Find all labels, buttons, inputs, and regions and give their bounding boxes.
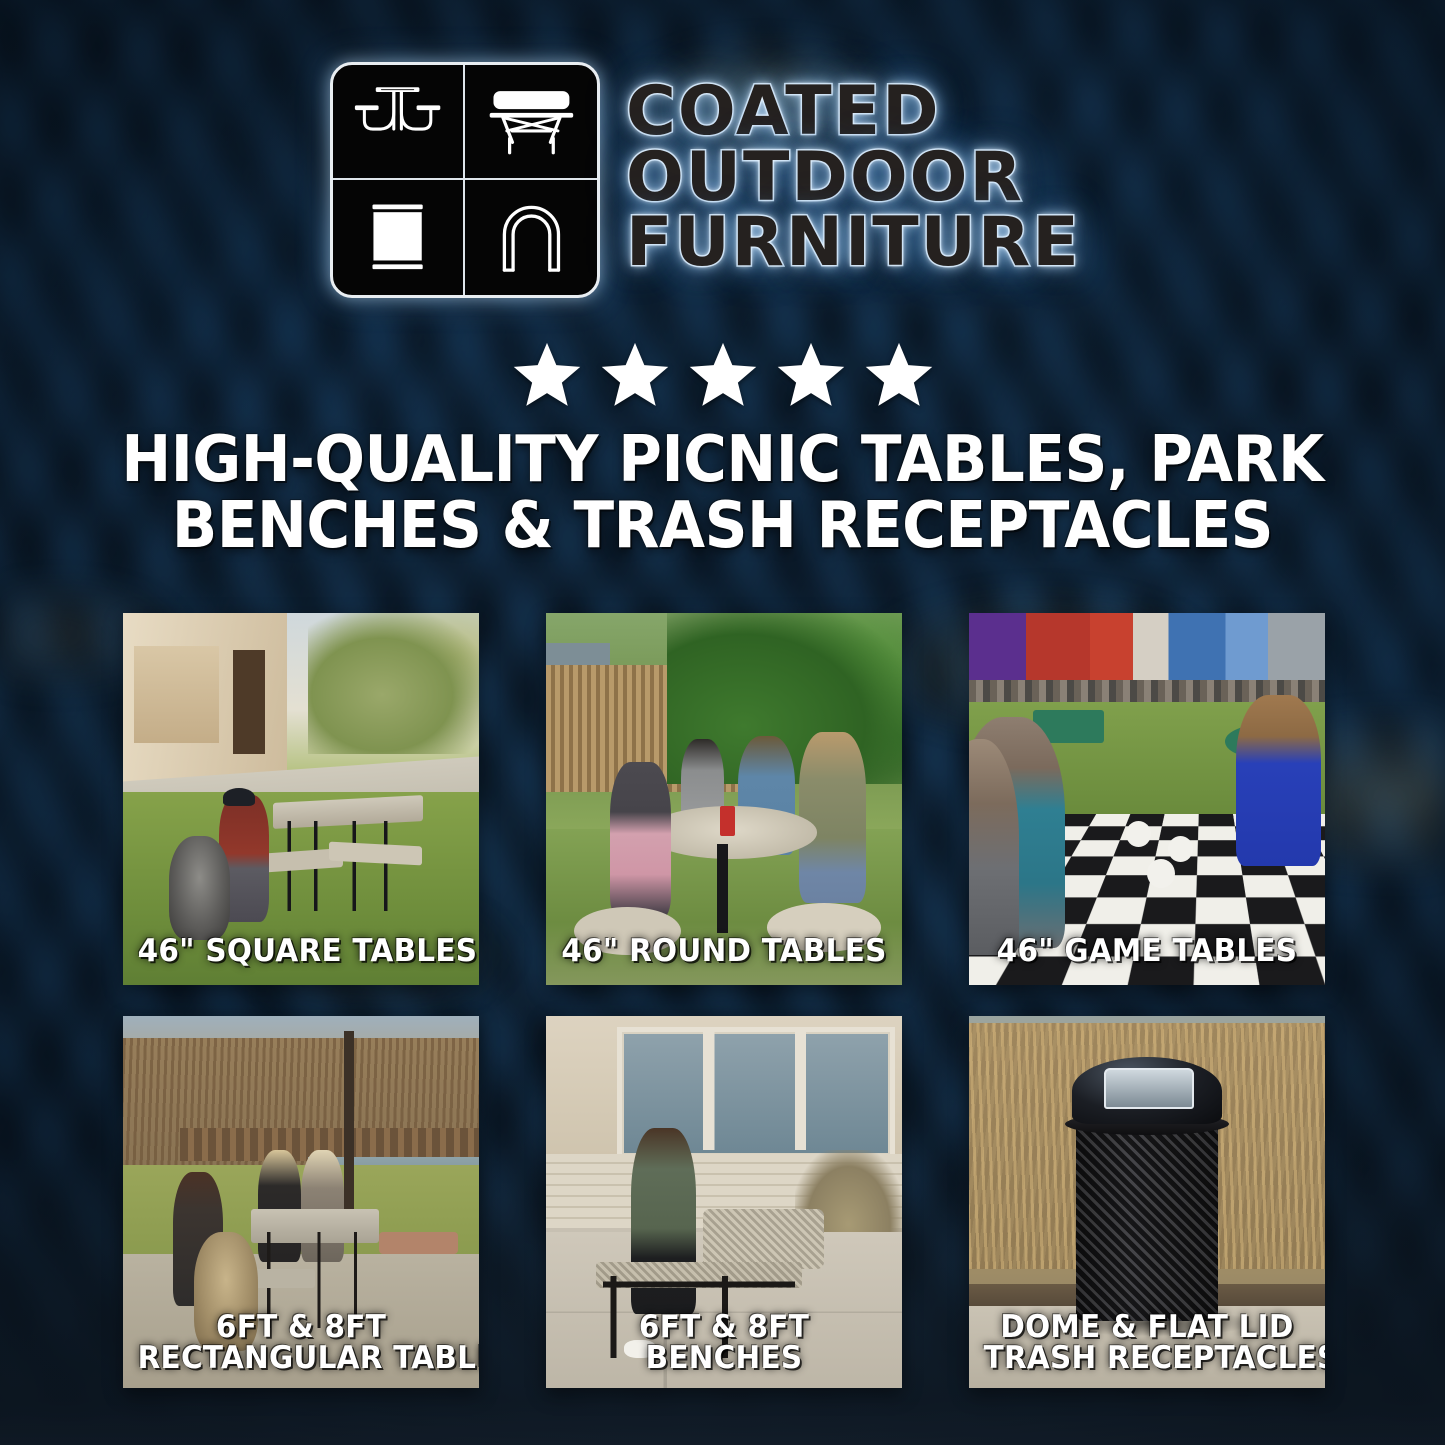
caption-line-2: BENCHES	[561, 1343, 888, 1374]
product-category-grid: 46" SQUARE TABLES 46" ROUND TABLES	[123, 613, 1323, 1388]
headline-line-1: HIGH-QUALITY PICNIC TABLES, PARK	[51, 428, 1395, 494]
headline-line-2: BENCHES & TRASH RECEPTACLES	[51, 494, 1395, 560]
page-title: HIGH-QUALITY PICNIC TABLES, PARK BENCHES…	[51, 428, 1395, 560]
caption-line-1: DOME & FLAT LID	[984, 1312, 1311, 1343]
brand-name-line-1: COATED	[626, 80, 1081, 144]
brand-wordmark: COATED OUTDOOR FURNITURE	[626, 80, 1081, 280]
star-rating	[0, 340, 1445, 410]
product-photo-game-tables	[969, 613, 1325, 985]
caption-line-2: RECTANGULAR TABLES	[138, 1343, 465, 1374]
product-tile-trash-receptacles[interactable]: DOME & FLAT LID TRASH RECEPTACLES	[969, 1016, 1325, 1388]
picnic-table-icon	[333, 65, 465, 180]
advertisement-poster: COATED OUTDOOR FURNITURE HIGH-QUALITY PI…	[0, 0, 1445, 1445]
caption-line-1: 6FT & 8FT	[138, 1312, 465, 1343]
brand-name-line-2: OUTDOOR	[626, 146, 1081, 210]
product-tile-benches[interactable]: 6FT & 8FT BENCHES	[546, 1016, 902, 1388]
caption-line-2: TRASH RECEPTACLES	[984, 1343, 1311, 1374]
product-tile-game-tables[interactable]: 46" GAME TABLES	[969, 613, 1325, 985]
product-tile-round-tables[interactable]: 46" ROUND TABLES	[546, 613, 902, 985]
caption-line-1: 6FT & 8FT	[561, 1312, 888, 1343]
product-tile-square-tables[interactable]: 46" SQUARE TABLES	[123, 613, 479, 985]
product-tile-rectangular-tables[interactable]: 6FT & 8FT RECTANGULAR TABLES	[123, 1016, 479, 1388]
product-tile-caption: 46" SQUARE TABLES	[132, 936, 470, 967]
product-tile-caption: 6FT & 8FT BENCHES	[555, 1312, 893, 1374]
product-tile-caption: DOME & FLAT LID TRASH RECEPTACLES	[978, 1312, 1316, 1374]
star-icon-1	[510, 340, 584, 410]
product-tile-caption: 6FT & 8FT RECTANGULAR TABLES	[132, 1312, 470, 1374]
caption-line-1: 46" GAME TABLES	[984, 936, 1311, 967]
caption-line-1: 46" SQUARE TABLES	[138, 936, 465, 967]
bike-rack-icon	[465, 180, 597, 295]
brand-logo: COATED OUTDOOR FURNITURE	[330, 62, 1120, 297]
product-tile-caption: 46" ROUND TABLES	[555, 936, 893, 967]
star-icon-4	[774, 340, 848, 410]
product-photo-round-tables	[546, 613, 902, 985]
brand-name-line-3: FURNITURE	[626, 211, 1081, 275]
star-icon-5	[862, 340, 936, 410]
star-icon-2	[598, 340, 672, 410]
star-icon-3	[686, 340, 760, 410]
logo-mark-grid	[330, 62, 600, 298]
product-photo-square-tables	[123, 613, 479, 985]
bench-icon	[465, 65, 597, 180]
trash-receptacle-icon	[333, 180, 465, 295]
product-tile-caption: 46" GAME TABLES	[978, 936, 1316, 967]
caption-line-1: 46" ROUND TABLES	[561, 936, 888, 967]
